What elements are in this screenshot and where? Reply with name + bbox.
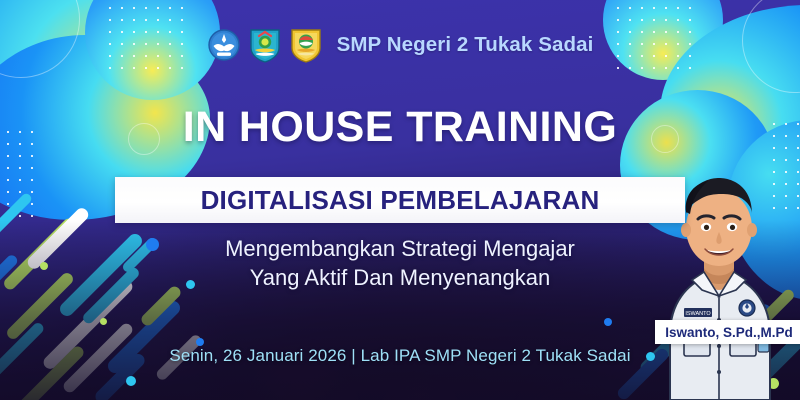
event-subtitle: Mengembangkan Strategi Mengajar Yang Akt…	[0, 234, 800, 293]
school-name: SMP Negeri 2 Tukak Sadai	[337, 33, 594, 57]
uniform-name-tag: ISWANTO	[685, 311, 711, 317]
subtitle-line-1: Mengembangkan Strategi Mengajar	[0, 234, 800, 263]
header-row: SMP Negeri 2 Tukak Sadai	[0, 27, 800, 63]
speaker-name-badge: Iswanto, S.Pd.,M.Pd	[655, 320, 800, 344]
tut-wuri-handayani-logo	[207, 27, 241, 63]
decorative-dot	[100, 318, 107, 325]
speaker-name: Iswanto, S.Pd.,M.Pd	[665, 325, 793, 340]
decorative-dot	[126, 376, 136, 386]
topic-text: DIGITALISASI PEMBELAJARAN	[201, 185, 600, 216]
event-banner: SMP Negeri 2 Tukak Sadai IN HOUSE TRAINI…	[0, 0, 800, 400]
topic-band: DIGITALISASI PEMBELAJARAN	[115, 177, 685, 223]
provinsi-bangka-belitung-logo	[289, 27, 323, 63]
decorative-dot	[196, 338, 204, 346]
decorative-dot	[604, 318, 612, 326]
kabupaten-bangka-selatan-logo	[248, 27, 282, 63]
subtitle-line-2: Yang Aktif Dan Menyenangkan	[0, 263, 800, 292]
event-datetime-venue: Senin, 26 Januari 2026 | Lab IPA SMP Neg…	[0, 346, 800, 366]
logo-group	[207, 27, 323, 63]
event-title: IN HOUSE TRAINING	[0, 103, 800, 152]
